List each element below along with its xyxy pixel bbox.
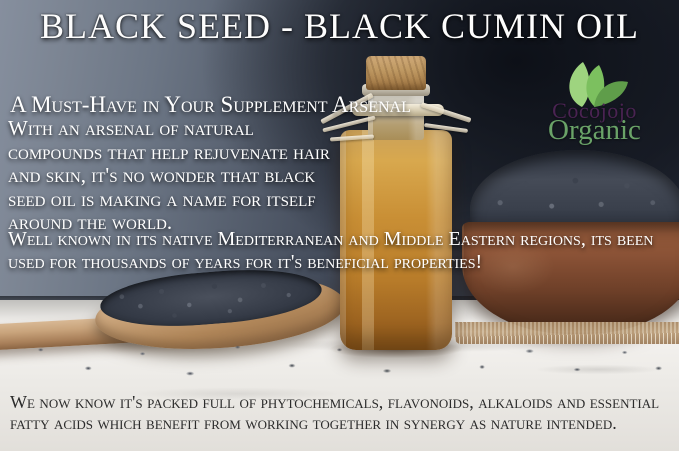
body-paragraph-2: Well known in its native Mediterranean a… <box>8 228 679 274</box>
brand-logo: Cocojojo Organic <box>522 60 667 160</box>
logo-brand-subtitle: Organic <box>522 116 667 145</box>
body-paragraph-3: We now know it's packed full of phytoche… <box>10 392 675 434</box>
body-paragraph-1: With an arsenal of natural compounds tha… <box>8 117 353 235</box>
cork-stopper-icon <box>366 56 426 90</box>
product-banner: Cocojojo Organic BLACK SEED - BLACK CUMI… <box>0 0 679 451</box>
page-title: BLACK SEED - BLACK CUMIN OIL <box>0 8 679 44</box>
headline: A Must-Have in Your Supplement Arsenal <box>10 93 411 117</box>
scattered-seeds <box>0 330 679 396</box>
